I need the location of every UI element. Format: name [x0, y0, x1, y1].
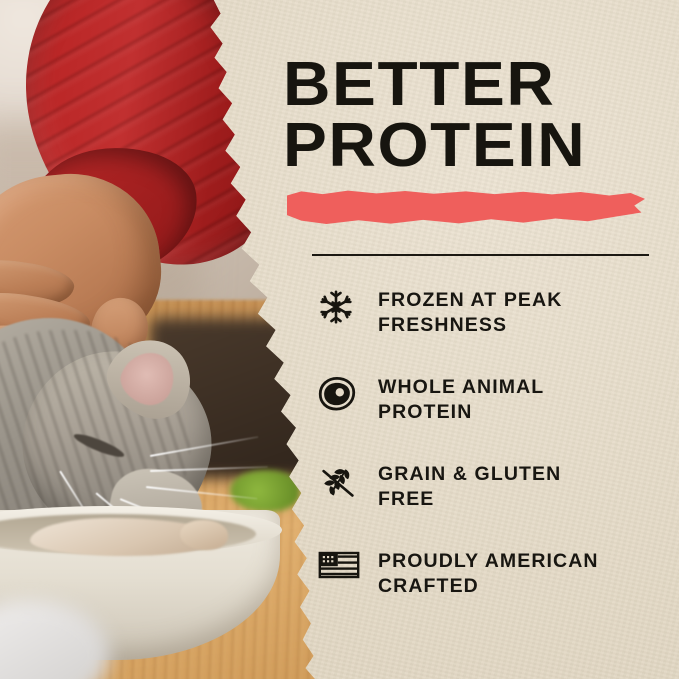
feature-line-2: CRAFTED	[378, 575, 479, 597]
snowflake-icon	[318, 286, 378, 325]
page-title: BETTER PROTEIN	[283, 54, 663, 177]
feature-line-2: FREE	[378, 488, 434, 510]
product-feature-graphic: BETTER PROTEIN	[0, 0, 679, 679]
feature-line-1: GRAIN & GLUTEN	[378, 463, 561, 485]
feature-line-1: WHOLE ANIMAL	[378, 376, 544, 398]
brush-stroke-accent	[287, 190, 645, 224]
feature-list: FROZEN AT PEAK FRESHNESS WHOLE ANIMAL PR…	[318, 286, 668, 634]
wheat-crossed-out-icon	[318, 460, 378, 503]
divider-rule	[312, 254, 649, 256]
feature-line-2: FRESHNESS	[378, 314, 507, 336]
feature-label: FROZEN AT PEAK FRESHNESS	[378, 286, 562, 338]
steak-meat-icon	[318, 373, 378, 412]
feature-item-american: PROUDLY AMERICAN CRAFTED	[318, 547, 668, 634]
feature-item-frozen: FROZEN AT PEAK FRESHNESS	[318, 286, 668, 373]
feature-label: PROUDLY AMERICAN CRAFTED	[378, 547, 599, 599]
feature-line-1: FROZEN AT PEAK	[378, 289, 562, 311]
feature-line-1: PROUDLY AMERICAN	[378, 550, 599, 572]
american-flag-icon	[318, 547, 378, 580]
feature-label: WHOLE ANIMAL PROTEIN	[378, 373, 544, 425]
cat-food-piece	[180, 520, 228, 550]
feature-label: GRAIN & GLUTEN FREE	[378, 460, 561, 512]
headline-line-1: BETTER	[283, 54, 679, 115]
feature-item-protein: WHOLE ANIMAL PROTEIN	[318, 373, 668, 460]
feature-line-2: PROTEIN	[378, 401, 472, 423]
feature-item-grain-free: GRAIN & GLUTEN FREE	[318, 460, 668, 547]
headline-line-2: PROTEIN	[283, 115, 679, 176]
